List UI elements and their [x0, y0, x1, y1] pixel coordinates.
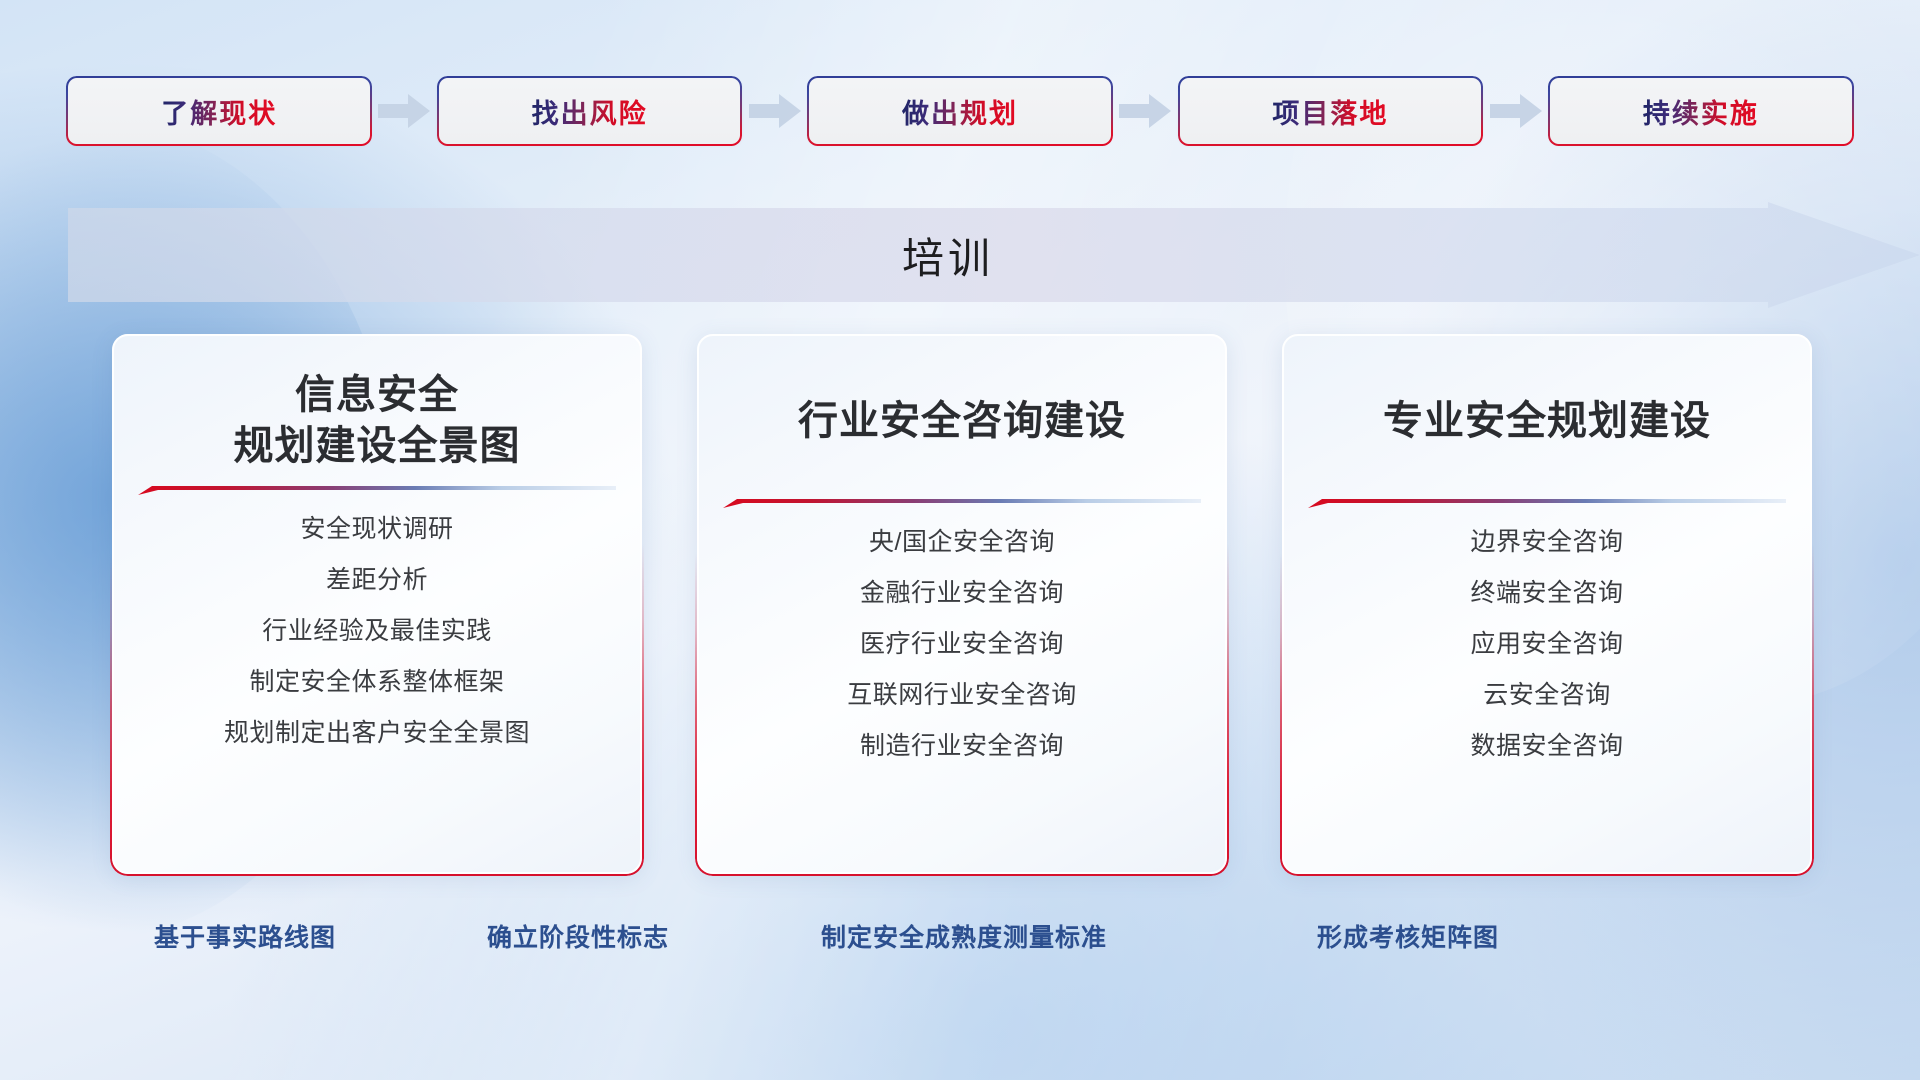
step-box-5[interactable]: 持续实施 — [1550, 78, 1852, 144]
card-industry-security-consulting[interactable]: 行业安全咨询建设 — [697, 334, 1227, 874]
step-label-1: 了解现状 — [161, 92, 277, 131]
gradient-divider-icon — [723, 495, 1201, 511]
card-list-3: 边界安全咨询 终端安全咨询 应用安全咨询 云安全咨询 数据安全咨询 — [1308, 517, 1786, 772]
card-title-1: 信息安全 规划建设全景图 — [234, 334, 521, 472]
step-box-4[interactable]: 项目落地 — [1179, 78, 1481, 144]
card-list-1: 安全现状调研 差距分析 行业经验及最佳实践 制定安全体系整体框架 规划制定出客户… — [138, 504, 616, 759]
training-banner: 培训 — [68, 202, 1920, 308]
footer-label-row: 基于事实路线图 确立阶段性标志 制定安全成熟度测量标准 形成考核矩阵图 — [0, 918, 1920, 962]
list-item: 应用安全咨询 — [1308, 619, 1786, 670]
footer-label-2: 确立阶段性标志 — [487, 918, 669, 954]
card-list-2: 央/国企安全咨询 金融行业安全咨询 医疗行业安全咨询 互联网行业安全咨询 制造行… — [723, 517, 1201, 772]
list-item: 金融行业安全咨询 — [723, 568, 1201, 619]
list-item: 行业经验及最佳实践 — [138, 606, 616, 657]
list-item: 云安全咨询 — [1308, 670, 1786, 721]
step-box-3[interactable]: 做出规划 — [809, 78, 1111, 144]
list-item: 央/国企安全咨询 — [723, 517, 1201, 568]
step-arrow-icon-4 — [1490, 94, 1542, 128]
footer-label-4: 形成考核矩阵图 — [1317, 918, 1499, 954]
gradient-divider-icon — [1308, 495, 1786, 511]
step-label-4: 项目落地 — [1272, 92, 1388, 131]
step-arrow-icon-2 — [749, 94, 801, 128]
footer-label-3: 制定安全成熟度测量标准 — [821, 918, 1107, 954]
step-label-5: 持续实施 — [1643, 92, 1759, 131]
step-label-2: 找出风险 — [532, 92, 648, 131]
list-item: 终端安全咨询 — [1308, 568, 1786, 619]
list-item: 医疗行业安全咨询 — [723, 619, 1201, 670]
card-divider-3 — [1308, 495, 1786, 511]
list-item: 制定安全体系整体框架 — [138, 657, 616, 708]
step-arrow-icon-3 — [1119, 94, 1171, 128]
list-item: 规划制定出客户安全全景图 — [138, 708, 616, 759]
card-row: 信息安全 规划建设全景图 — [112, 334, 1812, 874]
step-box-2[interactable]: 找出风险 — [438, 78, 740, 144]
gradient-divider-icon — [138, 482, 616, 498]
list-item: 数据安全咨询 — [1308, 721, 1786, 772]
list-item: 差距分析 — [138, 555, 616, 606]
step-box-1[interactable]: 了解现状 — [68, 78, 370, 144]
step-arrow-icon-1 — [378, 94, 430, 128]
step-label-3: 做出规划 — [902, 92, 1018, 131]
training-label: 培训 — [68, 202, 1828, 308]
footer-label-1: 基于事实路线图 — [154, 918, 336, 954]
list-item: 互联网行业安全咨询 — [723, 670, 1201, 721]
list-item: 边界安全咨询 — [1308, 517, 1786, 568]
list-item: 制造行业安全咨询 — [723, 721, 1201, 772]
card-professional-security-planning[interactable]: 专业安全规划建设 — [1282, 334, 1812, 874]
card-title-3: 专业安全规划建设 — [1383, 334, 1711, 447]
card-divider-1 — [138, 482, 616, 498]
card-title-2: 行业安全咨询建设 — [798, 334, 1126, 447]
list-item: 安全现状调研 — [138, 504, 616, 555]
process-step-row: 了解现状 找出风险 做出规划 项目落地 持续实施 — [68, 78, 1852, 144]
card-information-security-blueprint[interactable]: 信息安全 规划建设全景图 — [112, 334, 642, 874]
card-divider-2 — [723, 495, 1201, 511]
